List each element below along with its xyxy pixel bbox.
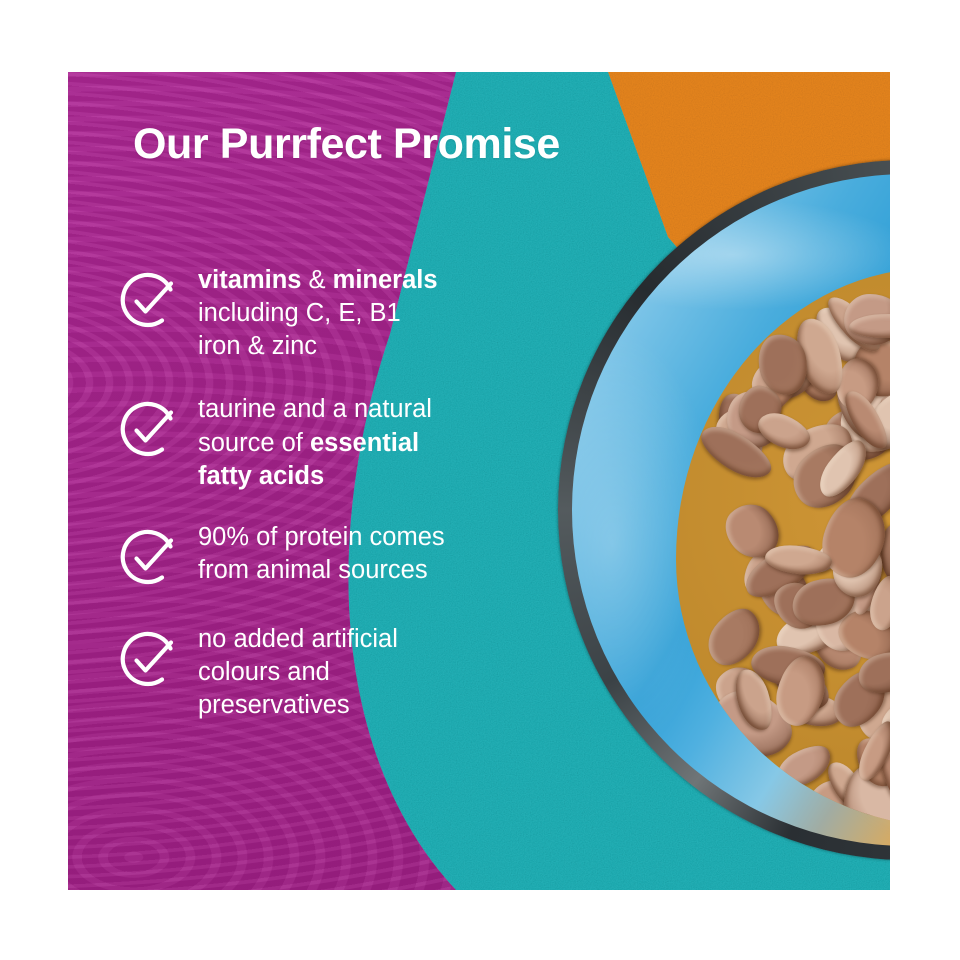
promise-1-line-2: including C, E, B1 bbox=[198, 299, 401, 327]
promise-list: vitamins & minerals including C, E, B1 i… bbox=[118, 262, 638, 744]
promise-4-line-1: no added artificial bbox=[198, 625, 398, 653]
list-item: vitamins & minerals including C, E, B1 i… bbox=[118, 262, 638, 363]
list-item: no added artificial colours and preserva… bbox=[118, 621, 638, 722]
page-title: Our Purrfect Promise bbox=[133, 120, 560, 169]
promise-1-bold-b: minerals bbox=[333, 266, 438, 294]
list-item: 90% of protein comes from animal sources bbox=[118, 519, 638, 589]
promise-4-line-3: preservatives bbox=[198, 691, 350, 719]
promo-canvas: Our Purrfect Promise vitamins & minerals… bbox=[0, 0, 960, 960]
list-item-text: vitamins & minerals including C, E, B1 i… bbox=[198, 262, 438, 363]
check-circle-icon bbox=[118, 527, 180, 589]
check-circle-icon bbox=[118, 629, 180, 691]
promise-2-line-2-pre: source of bbox=[198, 429, 310, 457]
promise-2-line-3-bold: fatty acids bbox=[198, 462, 324, 490]
promise-3-line-1: 90% of protein comes bbox=[198, 523, 445, 551]
list-item: taurine and a natural source of essentia… bbox=[118, 391, 638, 492]
panel-content: Our Purrfect Promise vitamins & minerals… bbox=[68, 72, 890, 890]
promise-1-line-3: iron & zinc bbox=[198, 332, 317, 360]
promise-3-line-2: from animal sources bbox=[198, 556, 428, 584]
promise-2-line-2-bold: essential bbox=[310, 429, 419, 457]
check-circle-icon bbox=[118, 399, 180, 461]
promise-panel: Our Purrfect Promise vitamins & minerals… bbox=[68, 72, 890, 890]
promise-4-line-2: colours and bbox=[198, 658, 330, 686]
list-item-text: 90% of protein comes from animal sources bbox=[198, 519, 445, 587]
promise-2-line-1: taurine and a natural bbox=[198, 395, 432, 423]
check-circle-icon bbox=[118, 270, 180, 332]
promise-1-bold-a: vitamins bbox=[198, 266, 301, 294]
promise-1-ampersand: & bbox=[301, 266, 332, 294]
list-item-text: no added artificial colours and preserva… bbox=[198, 621, 398, 722]
list-item-text: taurine and a natural source of essentia… bbox=[198, 391, 432, 492]
